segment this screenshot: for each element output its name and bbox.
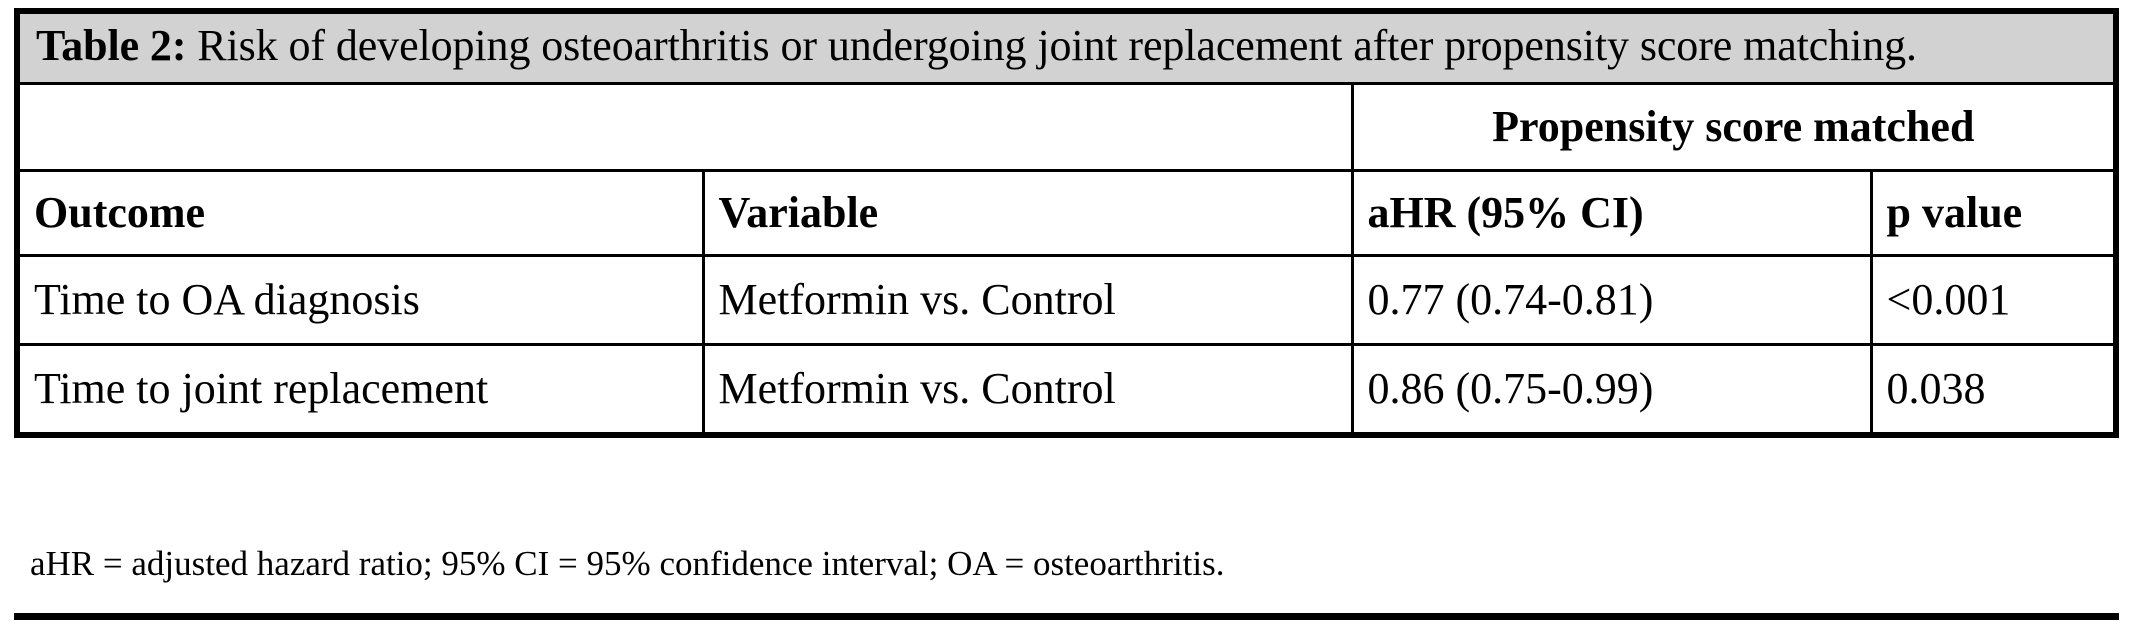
cell-ahr: 0.77 (0.74-0.81): [1352, 255, 1871, 344]
cell-ahr: 0.86 (0.75-0.99): [1352, 344, 1871, 432]
table-caption-label: Table 2:: [36, 21, 186, 70]
group-header-row: Propensity score matched: [20, 83, 2113, 170]
column-header-outcome: Outcome: [20, 170, 703, 255]
column-header-p-value: p value: [1871, 170, 2113, 255]
group-header-blank-cell: [20, 83, 1352, 170]
table-caption-text: Risk of developing osteoarthritis or und…: [197, 21, 1917, 70]
column-header-ahr: aHR (95% CI): [1352, 170, 1871, 255]
cell-outcome: Time to OA diagnosis: [20, 255, 703, 344]
table-figure: Table 2: Risk of developing osteoarthrit…: [0, 0, 2135, 629]
table-row: Time to OA diagnosis Metformin vs. Contr…: [20, 255, 2113, 344]
table-caption-row: Table 2: Risk of developing osteoarthrit…: [20, 14, 2113, 83]
column-header-row: Outcome Variable aHR (95% CI) p value: [20, 170, 2113, 255]
cell-p-value: <0.001: [1871, 255, 2113, 344]
cell-variable: Metformin vs. Control: [703, 255, 1352, 344]
cell-outcome: Time to joint replacement: [20, 344, 703, 432]
table-caption: Table 2: Risk of developing osteoarthrit…: [36, 20, 2097, 72]
results-table-container: Table 2: Risk of developing osteoarthrit…: [14, 8, 2119, 438]
cell-variable: Metformin vs. Control: [703, 344, 1352, 432]
group-header-propensity-score-matched: Propensity score matched: [1352, 83, 2113, 170]
table-footnote: aHR = adjusted hazard ratio; 95% CI = 95…: [30, 545, 2090, 584]
bottom-rule: [14, 613, 2119, 620]
results-table: Table 2: Risk of developing osteoarthrit…: [20, 14, 2113, 432]
table-caption-cell: Table 2: Risk of developing osteoarthrit…: [20, 14, 2113, 83]
table-row: Time to joint replacement Metformin vs. …: [20, 344, 2113, 432]
column-header-variable: Variable: [703, 170, 1352, 255]
cell-p-value: 0.038: [1871, 344, 2113, 432]
